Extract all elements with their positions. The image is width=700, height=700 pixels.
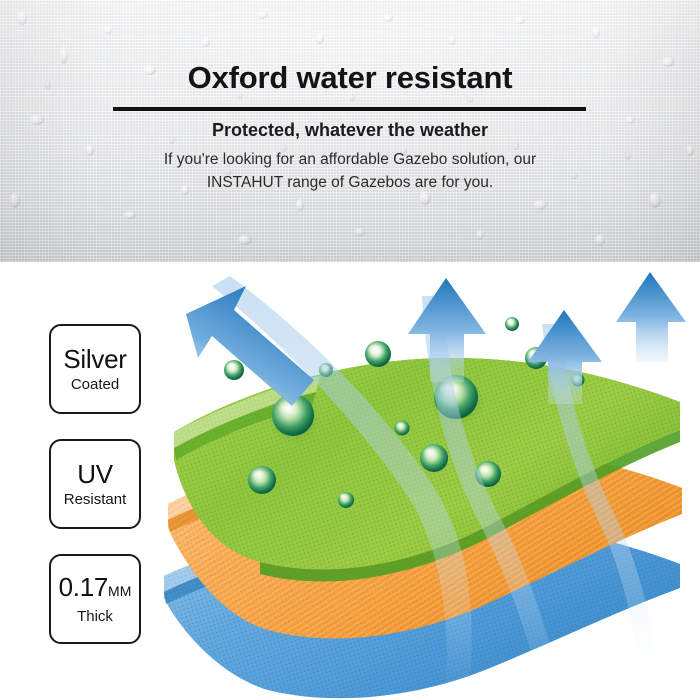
feature-badge-uv-resistant: UV Resistant — [49, 439, 141, 529]
feature-badge-subtitle: Coated — [71, 375, 119, 394]
page-title: Oxford water resistant — [0, 59, 700, 97]
feature-panel: Silver Coated UV Resistant 0.17MM Thick — [0, 262, 700, 700]
feature-badge-subtitle: Thick — [77, 607, 113, 626]
feature-badge-silver-coated: Silver Coated — [49, 324, 141, 414]
title-divider — [113, 107, 586, 111]
feature-badge-list: Silver Coated UV Resistant 0.17MM Thick — [49, 324, 143, 669]
product-feature-page: Oxford water resistant Protected, whatev… — [0, 0, 700, 700]
hero-banner: Oxford water resistant Protected, whatev… — [0, 0, 700, 262]
feature-badge-thickness: 0.17MM Thick — [49, 554, 141, 644]
feature-badge-title: 0.17MM — [59, 572, 132, 606]
feature-badge-title: Silver — [63, 344, 126, 374]
feature-badge-title: UV — [77, 459, 113, 489]
page-description: If you're looking for an affordable Gaze… — [130, 148, 570, 194]
feature-badge-subtitle: Resistant — [64, 490, 127, 509]
page-subtitle: Protected, whatever the weather — [0, 117, 700, 143]
thickness-unit: MM — [108, 583, 131, 599]
fabric-layers-illustration — [150, 262, 700, 700]
airflow-arrow-3 — [616, 272, 686, 362]
